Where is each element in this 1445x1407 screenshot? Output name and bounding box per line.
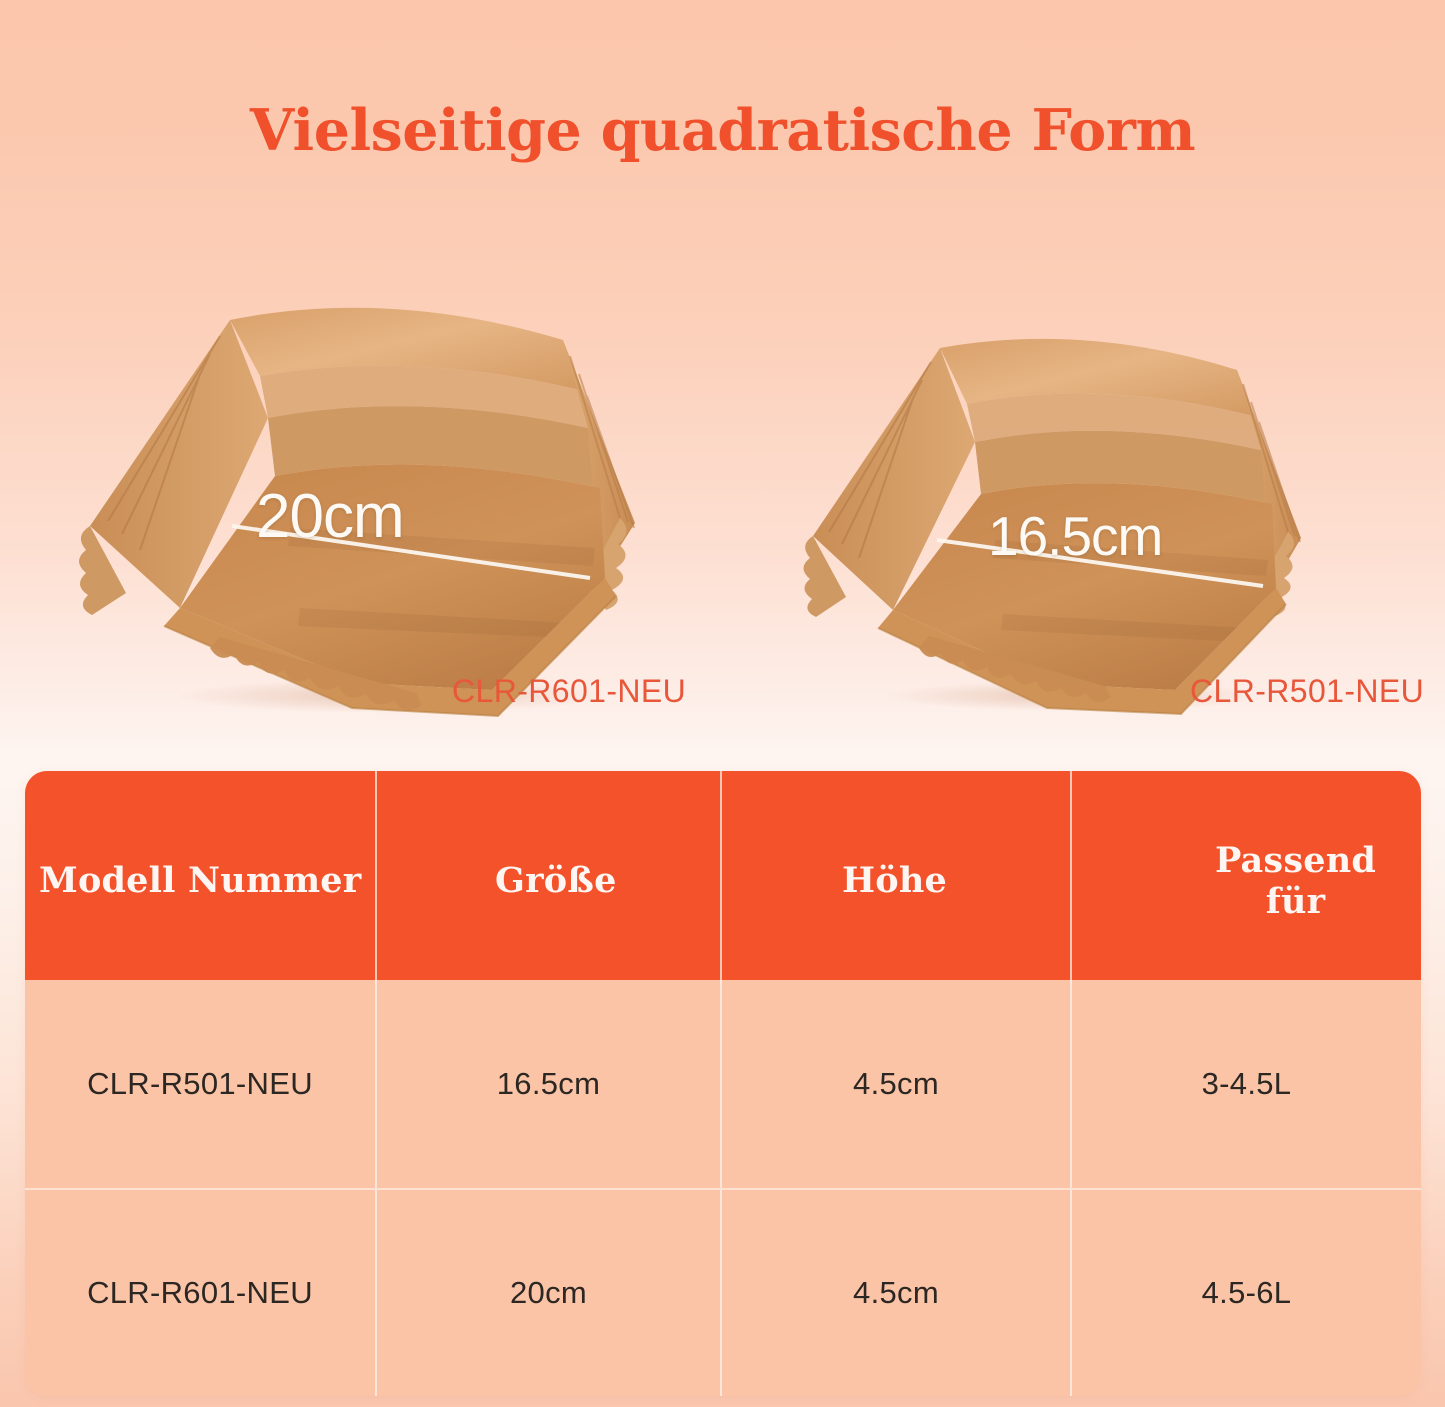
table-header-model-number: Modell Nummer bbox=[25, 771, 375, 980]
table-header-height-label: Höhe bbox=[842, 860, 947, 901]
table-cell-height: 4.5cm bbox=[720, 980, 1070, 1188]
table-header-size-label: Größe bbox=[495, 860, 617, 901]
table-cell-fits: 4.5-6L bbox=[1070, 1190, 1421, 1396]
table-row: CLR-R501-NEU 16.5cm 4.5cm 3-4.5L bbox=[25, 980, 1421, 1188]
product-infographic: Vielseitige quadratische Form bbox=[0, 0, 1445, 1407]
table-header-row: Modell Nummer Größe Höhe Passend für bbox=[25, 771, 1421, 980]
table-cell-height: 4.5cm bbox=[720, 1190, 1070, 1396]
table-cell-fits: 3-4.5L bbox=[1070, 980, 1421, 1188]
table-cell-size: 20cm bbox=[375, 1190, 720, 1396]
table-header-fits-for-label: Passend für bbox=[1182, 840, 1409, 922]
specification-table: Modell Nummer Größe Höhe Passend für CLR… bbox=[25, 771, 1421, 1396]
model-caption-right: CLR-R501-NEU bbox=[1190, 673, 1424, 710]
table-header-fits-for: Passend für bbox=[1070, 771, 1421, 980]
table-cell-model: CLR-R601-NEU bbox=[25, 1190, 375, 1396]
dimension-label-right: 16.5cm bbox=[988, 504, 1162, 568]
table-cell-model: CLR-R501-NEU bbox=[25, 980, 375, 1188]
table-header-size: Größe bbox=[375, 771, 720, 980]
table-row: CLR-R601-NEU 20cm 4.5cm 4.5-6L bbox=[25, 1188, 1421, 1396]
model-caption-left: CLR-R601-NEU bbox=[452, 673, 686, 710]
page-title: Vielseitige quadratische Form bbox=[0, 97, 1445, 164]
table-header-model-number-label: Modell Nummer bbox=[39, 860, 361, 901]
table-header-height: Höhe bbox=[720, 771, 1070, 980]
dimension-label-left: 20cm bbox=[256, 481, 404, 552]
table-cell-size: 16.5cm bbox=[375, 980, 720, 1188]
